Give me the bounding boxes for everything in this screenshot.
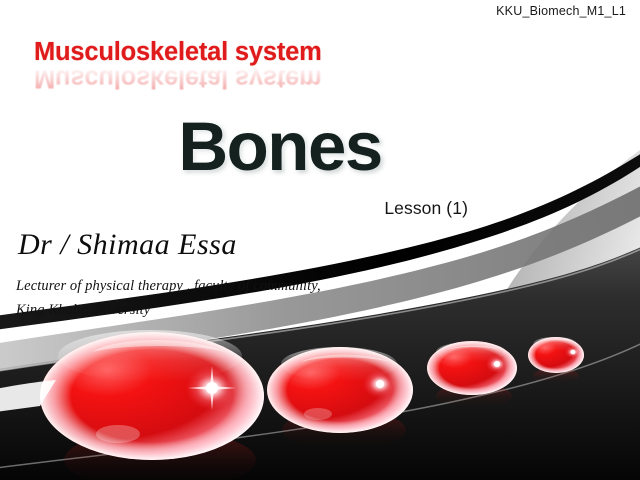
decor-sphere-1 [40,330,264,460]
presentation-slide: KKU_Biomech_M1_L1 Musculoskeletal system… [0,0,640,480]
course-title-group: Musculoskeletal system Musculoskeletal s… [34,40,454,98]
left-white-wedge [0,380,56,414]
presenter-name: Dr / Shimaa Essa [18,228,237,262]
presenter-affiliation-line-2: King Khalid university [16,302,150,319]
dark-floor [0,238,640,480]
decor-sphere-3 [427,341,517,395]
course-title: Musculoskeletal system [34,40,454,66]
decor-sphere-4 [528,337,584,373]
sphere-reflections [64,368,579,480]
presenter-affiliation-line-1: Lecturer of physical therapy , faculty o… [16,278,321,295]
document-code: KKU_Biomech_M1_L1 [496,4,626,18]
floor-sweep-line [0,334,640,470]
page-title: Bones [0,112,560,181]
decor-sphere-2 [267,347,413,433]
course-title-reflection: Musculoskeletal system [34,65,322,91]
lesson-label: Lesson (1) [0,198,468,219]
